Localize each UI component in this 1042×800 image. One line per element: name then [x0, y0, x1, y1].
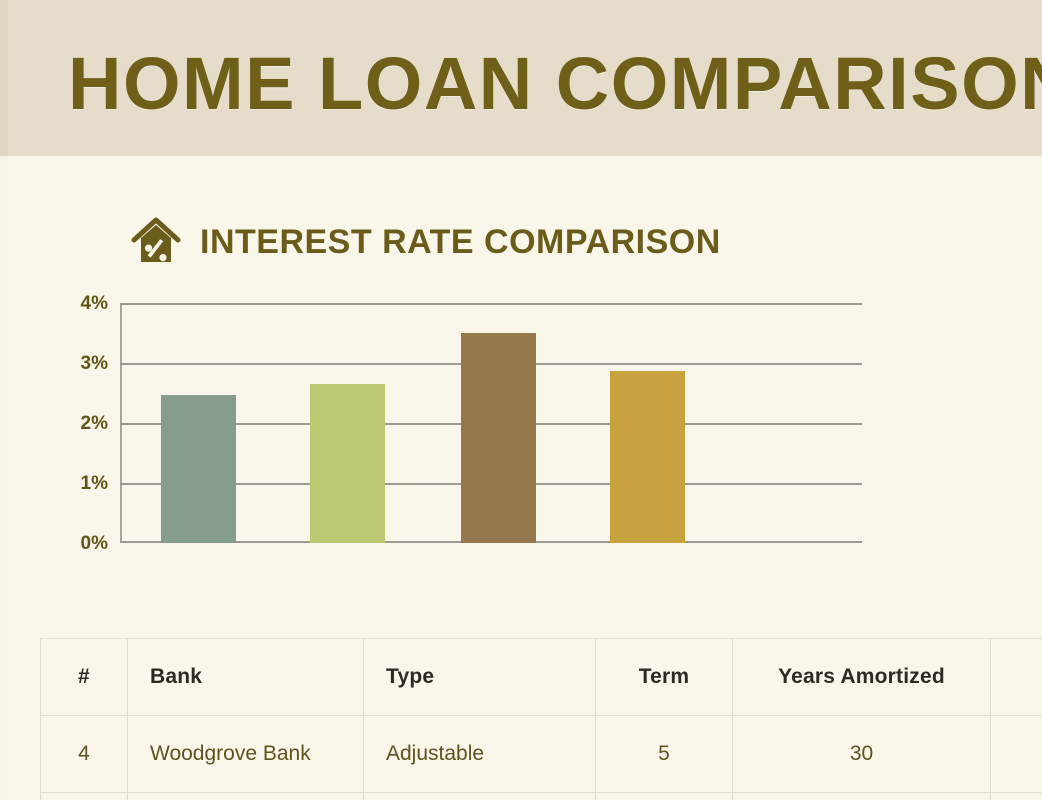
cell-term [596, 793, 733, 800]
loan-table-container: # Bank Type Term Years Amortized 4 Woodg… [40, 638, 1042, 800]
cell-extra [991, 793, 1042, 800]
table-header: # Bank Type Term Years Amortized [41, 639, 1042, 716]
bars-layer [120, 303, 862, 543]
bar-2[interactable] [310, 384, 385, 543]
column-header-number[interactable]: # [41, 639, 128, 716]
plot-area [120, 303, 862, 543]
y-tick-3: 3% [54, 354, 108, 373]
cell-bank [128, 793, 364, 800]
column-header-years-amortized[interactable]: Years Amortized [733, 639, 991, 716]
table-header-row: # Bank Type Term Years Amortized [41, 639, 1042, 716]
cell-number [41, 793, 128, 800]
cell-bank: Woodgrove Bank [128, 716, 364, 793]
loan-table: # Bank Type Term Years Amortized 4 Woodg… [40, 638, 1042, 800]
cell-years-amortized: 30 [733, 716, 991, 793]
cell-type [364, 793, 596, 800]
title-band-edge [0, 0, 8, 156]
column-header-bank[interactable]: Bank [128, 639, 364, 716]
column-header-extra[interactable] [991, 639, 1042, 716]
title-band: HOME LOAN COMPARISON [0, 0, 1042, 156]
table-row[interactable] [41, 793, 1042, 800]
table-body: 4 Woodgrove Bank Adjustable 5 30 [41, 716, 1042, 800]
chart-plot: 4% 3% 2% 1% 0% [0, 156, 1042, 616]
bar-3[interactable] [461, 333, 536, 543]
chart-section: INTEREST RATE COMPARISON 4% 3% 2% 1% 0% [0, 156, 1042, 616]
page-title: HOME LOAN COMPARISON [68, 36, 988, 132]
bar-4[interactable] [610, 371, 685, 543]
cell-years-amortized [733, 793, 991, 800]
cell-type: Adjustable [364, 716, 596, 793]
cell-extra [991, 716, 1042, 793]
y-tick-1: 1% [54, 474, 108, 493]
cell-number: 4 [41, 716, 128, 793]
y-axis-tick-labels: 4% 3% 2% 1% 0% [54, 284, 108, 534]
column-header-term[interactable]: Term [596, 639, 733, 716]
slide-page: HOME LOAN COMPARISON INTEREST RATE COMPA… [0, 0, 1042, 800]
y-tick-2: 2% [54, 414, 108, 433]
bar-1[interactable] [161, 395, 236, 543]
y-tick-0: 0% [54, 534, 108, 553]
y-tick-4: 4% [54, 294, 108, 313]
column-header-type[interactable]: Type [364, 639, 596, 716]
cell-term: 5 [596, 716, 733, 793]
table-row[interactable]: 4 Woodgrove Bank Adjustable 5 30 [41, 716, 1042, 793]
